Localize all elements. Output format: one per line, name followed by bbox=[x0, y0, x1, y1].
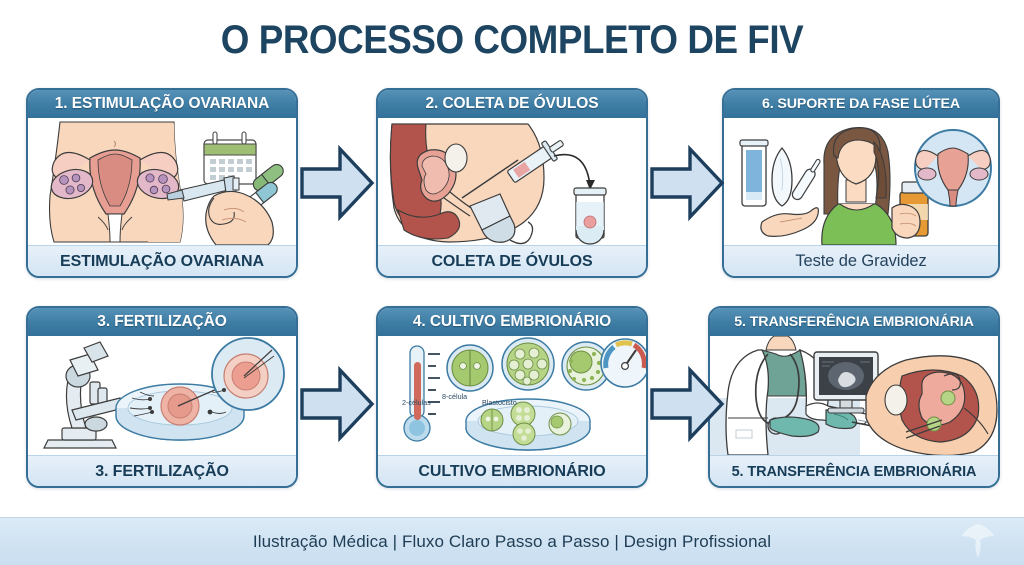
step-card-embryo-transfer[interactable]: 5. TRANSFERÊNCIA EMBRIONÁRIA bbox=[708, 306, 1000, 488]
arrow-step4-to-step5 bbox=[650, 366, 724, 442]
step-card-caption: 5. TRANSFERÊNCIA EMBRIONÁRIA bbox=[710, 455, 998, 487]
ovarian-stimulation-illustration bbox=[28, 118, 296, 245]
step-card-caption: 3. FERTILIZAÇÃO bbox=[28, 455, 296, 487]
step-card-header: 1. ESTIMULAÇÃO OVARIANA bbox=[28, 90, 296, 118]
stage-label-blastocyst: Blastocisto bbox=[482, 398, 517, 407]
step-card-caption: ESTIMULAÇÃO OVARIANA bbox=[28, 245, 296, 277]
step-card-header: 5. TRANSFERÊNCIA EMBRIONÁRIA bbox=[710, 308, 998, 336]
step-card-caption: Teste de Gravidez bbox=[724, 245, 998, 277]
arrow-step3-to-step4 bbox=[300, 366, 374, 442]
step-card-luteal-support[interactable]: 6. SUPORTE DA FASE LÚTEA bbox=[722, 88, 1000, 278]
embryo-culture-illustration: 2-células 8-célula Blastocisto bbox=[378, 336, 646, 455]
arrow-step1-to-step2 bbox=[300, 145, 374, 221]
fertilization-illustration bbox=[28, 336, 296, 455]
step-card-embryo-culture[interactable]: 4. CULTIVO EMBRIONÁRIO bbox=[376, 306, 648, 488]
leaf-watermark-icon bbox=[952, 517, 1004, 565]
infographic-page: O PROCESSO COMPLETO DE FIV 1. ESTIMULAÇÃ… bbox=[0, 0, 1024, 565]
footer-bar: Ilustração Médica | Fluxo Claro Passo a … bbox=[0, 517, 1024, 565]
arrow-step2-to-step6 bbox=[650, 145, 724, 221]
step-card-header: 6. SUPORTE DA FASE LÚTEA bbox=[724, 90, 998, 118]
step-card-fertilization[interactable]: 3. FERTILIZAÇÃO bbox=[26, 306, 298, 488]
step-card-caption: CULTIVO EMBRIONÁRIO bbox=[378, 455, 646, 487]
egg-retrieval-illustration bbox=[378, 118, 646, 245]
step-card-egg-retrieval[interactable]: 2. COLETA DE ÓVULOS bbox=[376, 88, 648, 278]
step-card-header: 2. COLETA DE ÓVULOS bbox=[378, 90, 646, 118]
footer-credits: Ilustração Médica | Fluxo Claro Passo a … bbox=[253, 532, 771, 552]
step-card-header: 3. FERTILIZAÇÃO bbox=[28, 308, 296, 336]
step-card-caption: COLETA DE ÓVULOS bbox=[378, 245, 646, 277]
stage-label-2-cells: 2-células bbox=[402, 398, 431, 407]
step-card-ovarian-stimulation[interactable]: 1. ESTIMULAÇÃO OVARIANA bbox=[26, 88, 298, 278]
page-title: O PROCESSO COMPLETO DE FIV bbox=[41, 18, 983, 63]
step-card-header: 4. CULTIVO EMBRIONÁRIO bbox=[378, 308, 646, 336]
luteal-phase-support-illustration bbox=[724, 118, 998, 245]
stage-label-8-cells: 8-célula bbox=[442, 392, 467, 401]
embryo-transfer-illustration bbox=[710, 336, 998, 455]
